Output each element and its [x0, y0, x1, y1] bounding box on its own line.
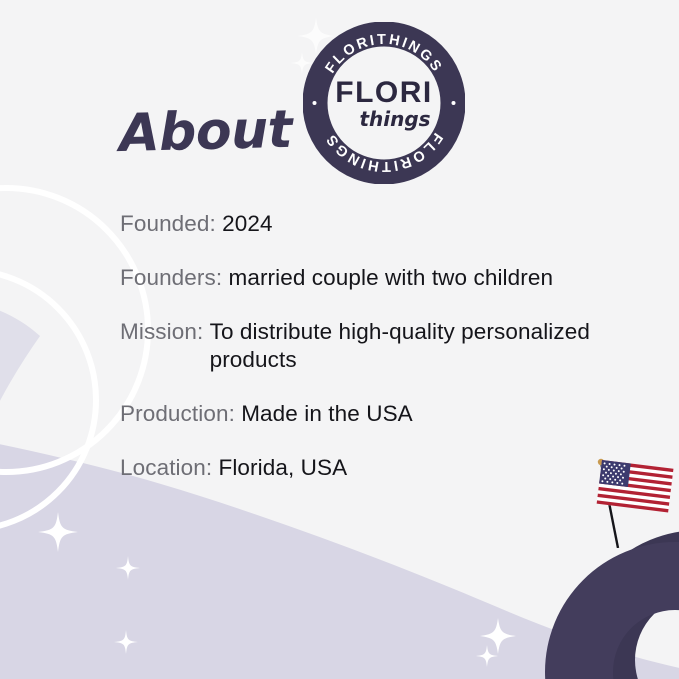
info-label-mission: Mission:: [120, 319, 203, 344]
navy-ring-donut: [545, 542, 679, 679]
info-label-founded: Founded:: [120, 211, 216, 236]
sparkle-star: [38, 512, 78, 552]
white-outline-circle-small: [0, 270, 96, 530]
info-value-founders: married couple with two children: [228, 265, 553, 290]
logo-wordmark: FLORI: [335, 76, 433, 109]
sparkle-star: [114, 630, 138, 654]
navy-ring-shape: [570, 530, 679, 679]
lavender-left-wedge: [0, 300, 40, 452]
about-card: FLORITHINGS FLORITHINGS FLORI things Abo…: [0, 0, 679, 679]
info-label-production: Production:: [120, 401, 235, 426]
logo-ring-dot: [313, 101, 317, 105]
sparkle-star: [476, 645, 498, 667]
info-value-founded: 2024: [222, 211, 272, 236]
info-row-production: Production: Made in the USA: [120, 400, 640, 429]
logo-ring-dot: [452, 101, 456, 105]
logo-script-word: things: [359, 107, 430, 131]
sparkle-star: [116, 556, 140, 580]
info-row-mission: Mission: To distribute high-quality pers…: [120, 318, 640, 376]
info-row-location: Location: Florida, USA: [120, 454, 640, 483]
page-title: About: [119, 104, 293, 160]
flag-cloth: [597, 460, 674, 512]
info-row-founded: Founded: 2024: [120, 210, 640, 239]
info-value-production: Made in the USA: [241, 401, 413, 426]
usa-flag-icon: [592, 448, 679, 548]
info-value-location: Florida, USA: [218, 455, 347, 480]
info-value-mission: To distribute high-quality personalized …: [210, 318, 622, 376]
about-info-list: Founded: 2024 Founders: married couple w…: [120, 210, 640, 483]
sparkle-star: [480, 618, 516, 654]
info-row-founders: Founders: married couple with two childr…: [120, 264, 640, 293]
sparkle-group: [38, 512, 516, 667]
info-label-location: Location:: [120, 455, 212, 480]
florithings-logo: FLORITHINGS FLORITHINGS FLORI things: [303, 22, 465, 184]
info-label-founders: Founders:: [120, 265, 222, 290]
